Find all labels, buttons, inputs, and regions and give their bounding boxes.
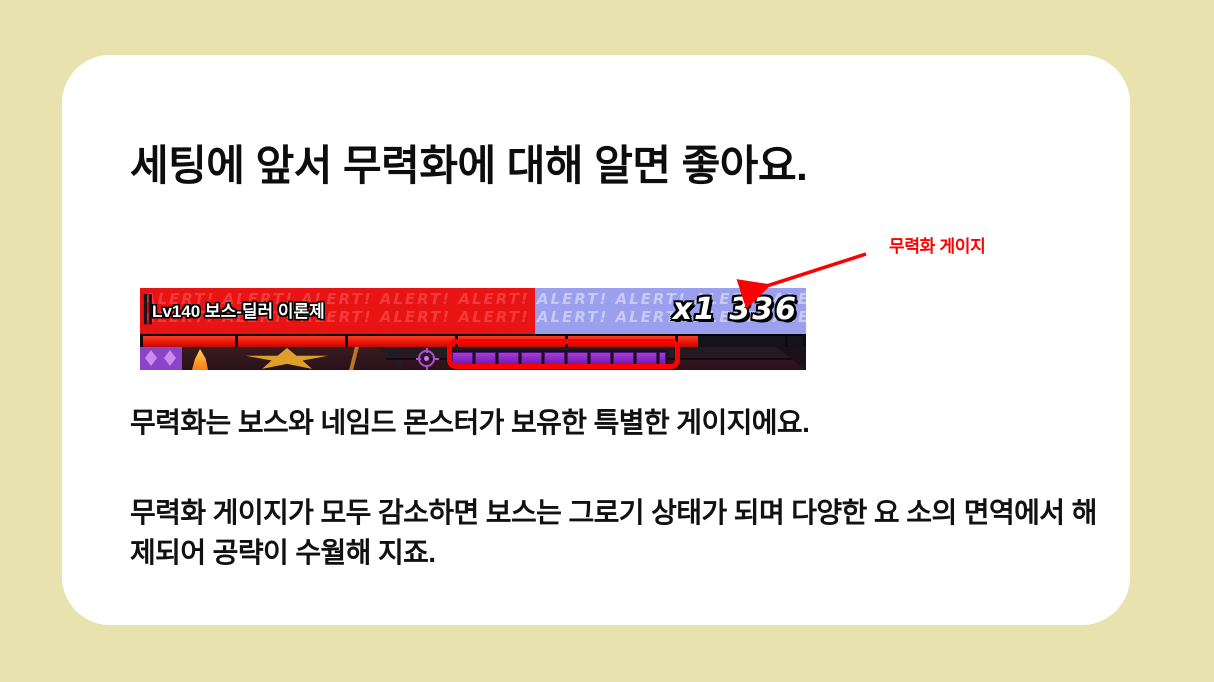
gauge-segment <box>475 352 496 366</box>
star-emblem-icon <box>244 348 330 370</box>
game-screenshot-image: ALERT! ALERT! ALERT! ALERT! ALERT! ALERT… <box>140 288 806 370</box>
gauge-segment <box>544 352 565 366</box>
page-title: 세팅에 앞서 무력화에 대해 알면 좋아요. <box>130 143 807 189</box>
whip-decoration <box>349 347 359 370</box>
gauge-segment <box>498 352 519 366</box>
purple-tile-decoration <box>140 347 182 370</box>
boss-name-label: Lv140 보스-딜러 이론제 <box>152 297 325 322</box>
reticle-arm <box>434 358 439 360</box>
diamond-icon <box>164 350 176 366</box>
diamond-icon <box>145 350 157 366</box>
paragraph-two: 무력화 게이지가 모두 감소하면 보스는 그로기 상태가 되며 다양한 요 소의… <box>130 493 1115 573</box>
reticle-arm <box>426 348 428 353</box>
flame-icon <box>192 349 208 370</box>
gauge-segment <box>590 352 611 366</box>
reticle-arm <box>426 366 428 370</box>
paragraph-two-line-1: 무력화 게이지가 모두 감소하면 보스는 그로기 상태가 되며 다양한 요 <box>130 497 899 528</box>
gauge-segment <box>567 352 588 366</box>
stagger-gauge <box>450 350 668 368</box>
bracket-decoration-icon: ‖ <box>140 293 150 327</box>
target-reticle-icon <box>418 350 435 367</box>
paragraph-one: 무력화는 보스와 네임드 몬스터가 보유한 특별한 게이지에요. <box>130 403 1090 443</box>
gauge-segment <box>636 352 657 366</box>
content-card: 세팅에 앞서 무력화에 대해 알면 좋아요. ALERT! ALERT! ALE… <box>62 55 1130 625</box>
gauge-segment <box>452 352 473 366</box>
hp-multiplier-label: x1 336 <box>673 292 798 327</box>
gauge-segment-partial <box>659 352 666 366</box>
gauge-segment <box>521 352 542 366</box>
gauge-segment <box>613 352 634 366</box>
reticle-arm <box>416 358 421 360</box>
annotation-label: 무력화 게이지 <box>889 232 985 257</box>
